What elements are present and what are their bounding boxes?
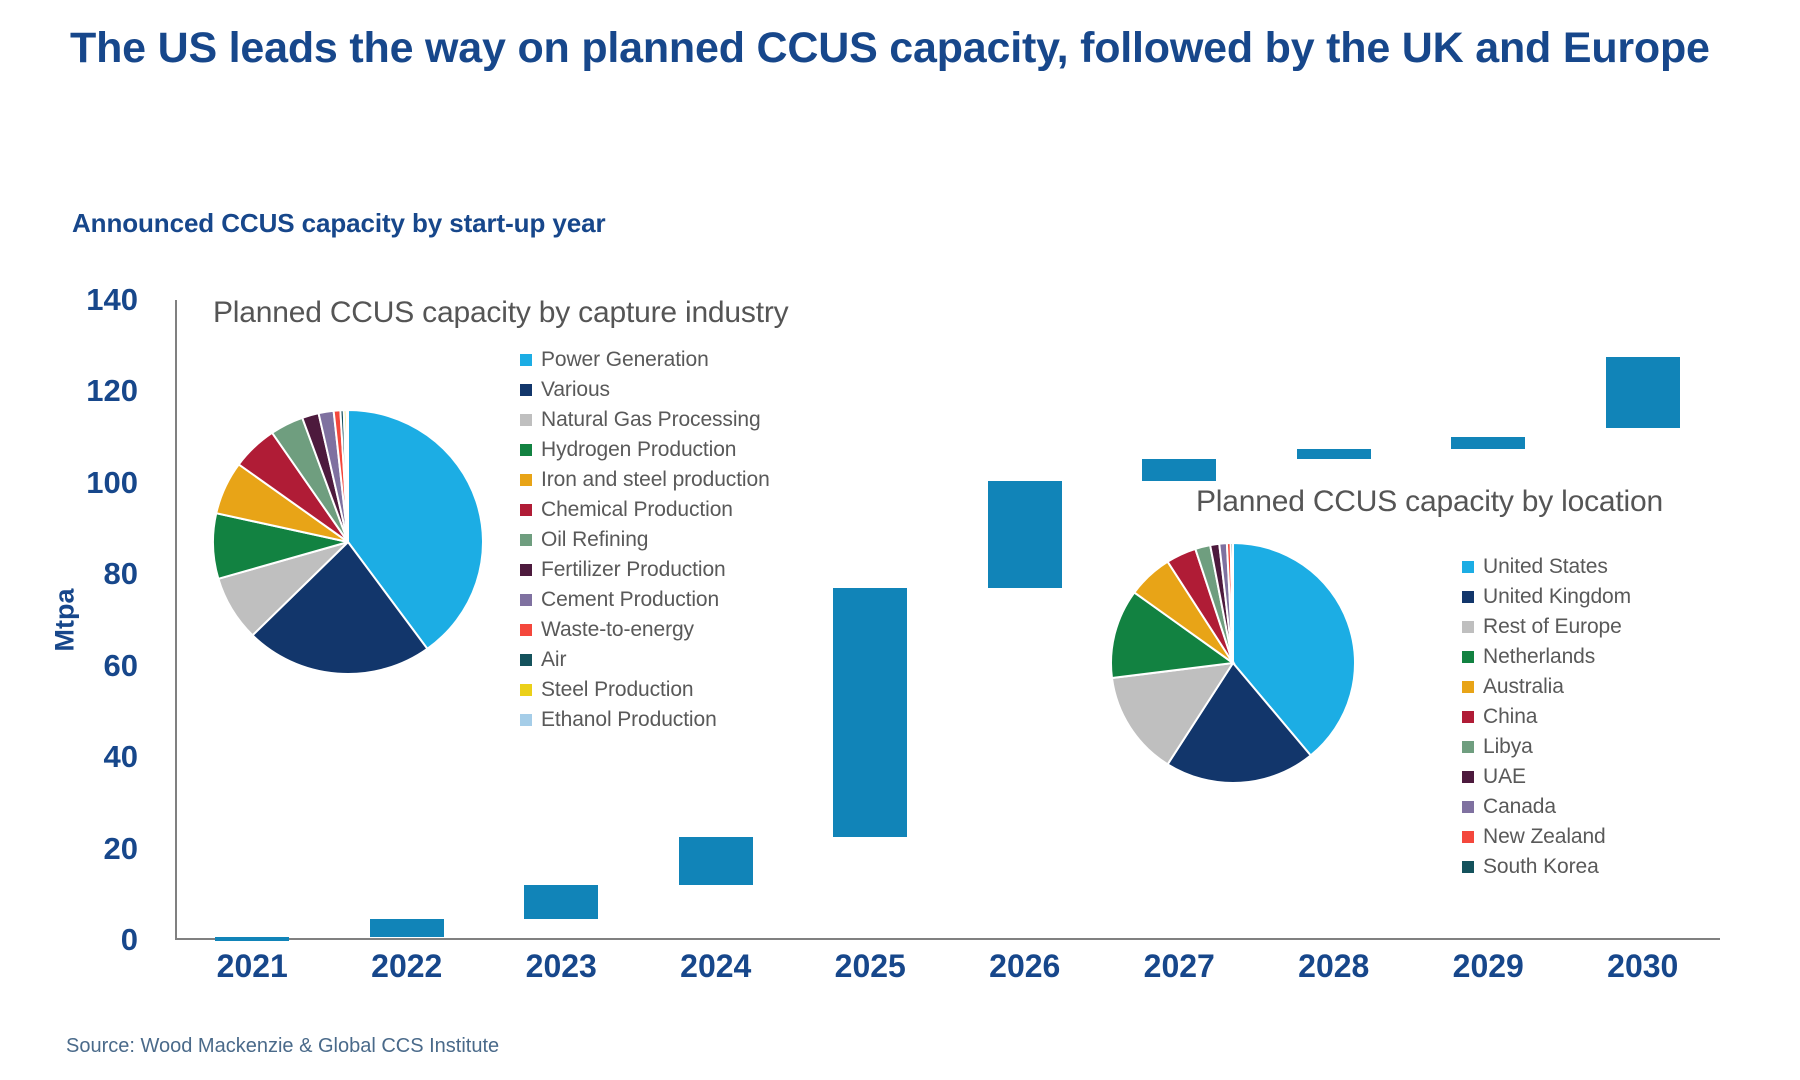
bar-2027 <box>1142 459 1216 481</box>
x-tick-label-2028: 2028 <box>1298 948 1369 985</box>
x-tick-label-2026: 2026 <box>989 948 1060 985</box>
bar-2021 <box>215 937 289 941</box>
bar-2029 <box>1451 437 1525 448</box>
y-tick-label: 0 <box>18 922 138 958</box>
x-tick-label-2029: 2029 <box>1453 948 1524 985</box>
y-tick-label: 80 <box>18 556 138 592</box>
bar-2030 <box>1606 357 1680 428</box>
chart-subtitle: Announced CCUS capacity by start-up year <box>72 208 605 239</box>
page-title: The US leads the way on planned CCUS cap… <box>70 22 1730 74</box>
bar-2022 <box>370 919 444 937</box>
x-tick-label-2022: 2022 <box>371 948 442 985</box>
bar-2024 <box>679 837 753 885</box>
bar-2023 <box>524 885 598 919</box>
x-tick-label-2024: 2024 <box>680 948 751 985</box>
source-note: Source: Wood Mackenzie & Global CCS Inst… <box>66 1035 499 1058</box>
x-tick-label-2030: 2030 <box>1607 948 1678 985</box>
x-tick-label-2025: 2025 <box>835 948 906 985</box>
y-tick-label: 140 <box>18 282 138 318</box>
bar-2026 <box>988 481 1062 588</box>
y-tick-label: 60 <box>18 648 138 684</box>
x-axis-line <box>175 938 1720 940</box>
bar-2028 <box>1297 449 1371 459</box>
y-tick-label: 20 <box>18 831 138 867</box>
y-tick-label: 40 <box>18 739 138 775</box>
y-axis-label: Mtpa <box>50 589 81 652</box>
waterfall-chart: Mtpa 020406080100120140 2021202220232024… <box>175 300 1735 940</box>
x-tick-label-2021: 2021 <box>217 948 288 985</box>
bar-2025 <box>833 588 907 837</box>
x-tick-label-2027: 2027 <box>1144 948 1215 985</box>
y-tick-label: 120 <box>18 373 138 409</box>
y-axis-line <box>175 300 177 940</box>
x-tick-label-2023: 2023 <box>526 948 597 985</box>
y-tick-label: 100 <box>18 465 138 501</box>
